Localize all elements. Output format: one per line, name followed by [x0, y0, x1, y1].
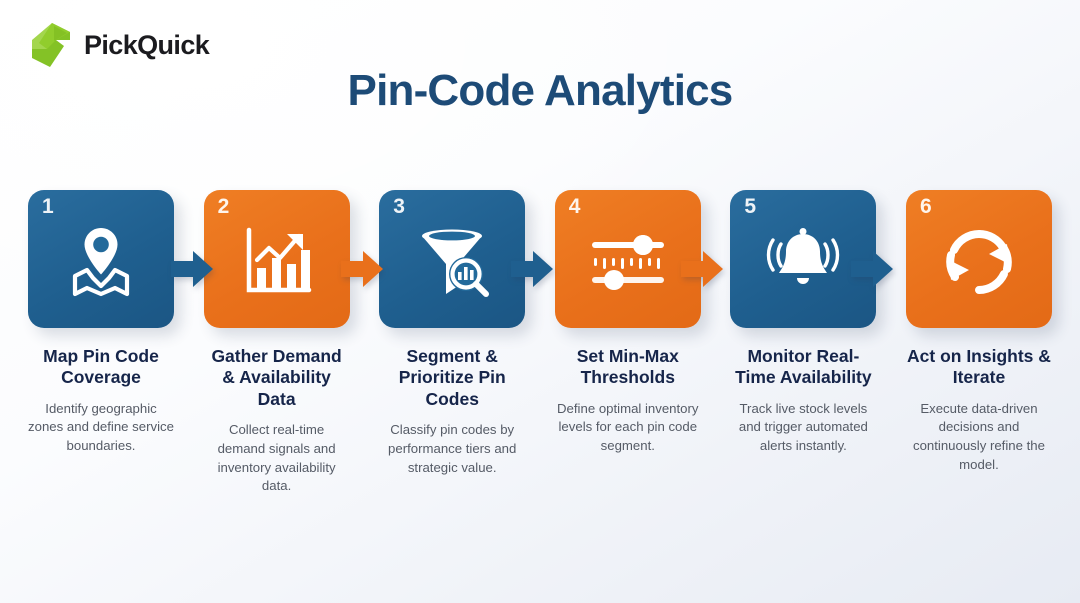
lightning-bolt-icon	[30, 22, 72, 68]
step-5-description: Track live stock levels and trigger auto…	[730, 400, 876, 456]
step-1-heading: Map Pin Code Coverage	[28, 346, 174, 389]
step-3-description: Classify pin codes by performance tiers …	[379, 421, 525, 477]
step-6[interactable]: 6 Act on Insights & Iterate Execute data…	[906, 190, 1052, 475]
step-1-number: 1	[42, 196, 54, 217]
step-3-heading: Segment & Prioritize Pin Codes	[379, 346, 525, 410]
arrow-3-to-4	[511, 250, 553, 288]
slider-controls-icon	[586, 220, 670, 304]
process-steps: 1 Map Pin Code Coverage Identify geograp…	[28, 190, 1052, 496]
arrow-5-to-6	[851, 250, 893, 288]
arrow-2-to-3	[341, 250, 383, 288]
step-2-card[interactable]: 2	[204, 190, 350, 328]
step-1-description: Identify geographic zones and define ser…	[28, 400, 174, 456]
funnel-magnifier-icon	[410, 220, 494, 304]
step-4-description: Define optimal inventory levels for each…	[555, 400, 701, 456]
map-pin-location-icon	[59, 220, 143, 304]
page-title: Pin-Code Analytics	[0, 66, 1080, 116]
step-6-number: 6	[920, 196, 932, 217]
step-1-card[interactable]: 1	[28, 190, 174, 328]
step-4-card[interactable]: 4	[555, 190, 701, 328]
step-5-number: 5	[744, 196, 756, 217]
step-5[interactable]: 5 Monitor Real-Time Availability Track l…	[730, 190, 876, 456]
step-2[interactable]: 2 Gather Demand & Availability Data Coll…	[204, 190, 350, 496]
step-6-description: Execute data-driven decisions and contin…	[906, 400, 1052, 475]
arrow-4-to-5	[681, 250, 723, 288]
step-6-heading: Act on Insights & Iterate	[906, 346, 1052, 389]
step-3-card[interactable]: 3	[379, 190, 525, 328]
step-4[interactable]: 4 Set Min-Max Thresholds	[555, 190, 701, 456]
step-2-heading: Gather Demand & Availability Data	[204, 346, 350, 410]
step-3-number: 3	[393, 196, 405, 217]
ringing-bell-icon	[761, 220, 845, 304]
step-5-heading: Monitor Real-Time Availability	[730, 346, 876, 389]
brand-name: PickQuick	[84, 32, 209, 59]
step-6-card[interactable]: 6	[906, 190, 1052, 328]
brand-logo: PickQuick	[30, 22, 209, 68]
arrow-1-to-2	[171, 250, 213, 288]
step-3[interactable]: 3 Segment & Prioritize Pin Codes Classif…	[379, 190, 525, 477]
step-4-number: 4	[569, 196, 581, 217]
step-2-number: 2	[218, 196, 230, 217]
step-4-heading: Set Min-Max Thresholds	[555, 346, 701, 389]
refresh-sync-icon	[937, 220, 1021, 304]
bar-chart-growth-icon	[235, 220, 319, 304]
step-1[interactable]: 1 Map Pin Code Coverage Identify geograp…	[28, 190, 174, 456]
step-2-description: Collect real-time demand signals and inv…	[204, 421, 350, 496]
